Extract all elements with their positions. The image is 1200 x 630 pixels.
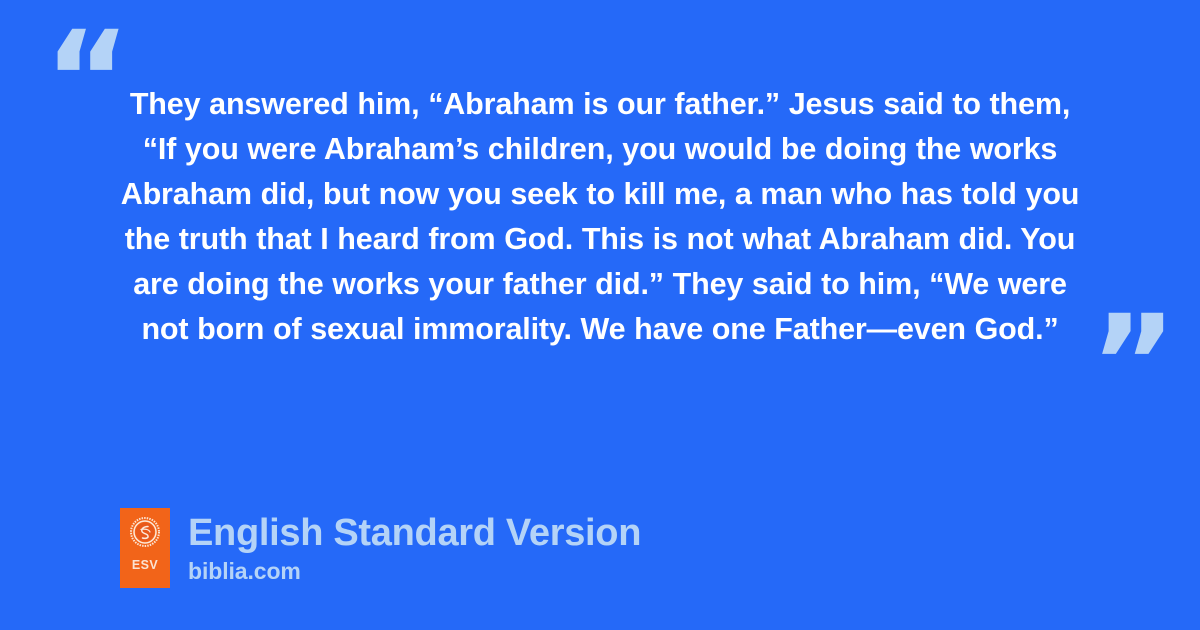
- quote-block: They answered him, “Abraham is our fathe…: [110, 82, 1090, 352]
- site-url[interactable]: biblia.com: [188, 556, 641, 586]
- quote-text: They answered him, “Abraham is our fathe…: [110, 82, 1090, 352]
- attribution: ESV English Standard Version biblia.com: [120, 508, 641, 588]
- close-quote-icon: ”: [1090, 298, 1177, 430]
- esv-logo: ESV: [120, 508, 170, 588]
- esv-seal-icon: [130, 517, 160, 547]
- bible-version-name: English Standard Version: [188, 510, 641, 556]
- attribution-text: English Standard Version biblia.com: [188, 508, 641, 586]
- esv-logo-label: ESV: [132, 559, 158, 572]
- quote-card: “ They answered him, “Abraham is our fat…: [0, 0, 1200, 630]
